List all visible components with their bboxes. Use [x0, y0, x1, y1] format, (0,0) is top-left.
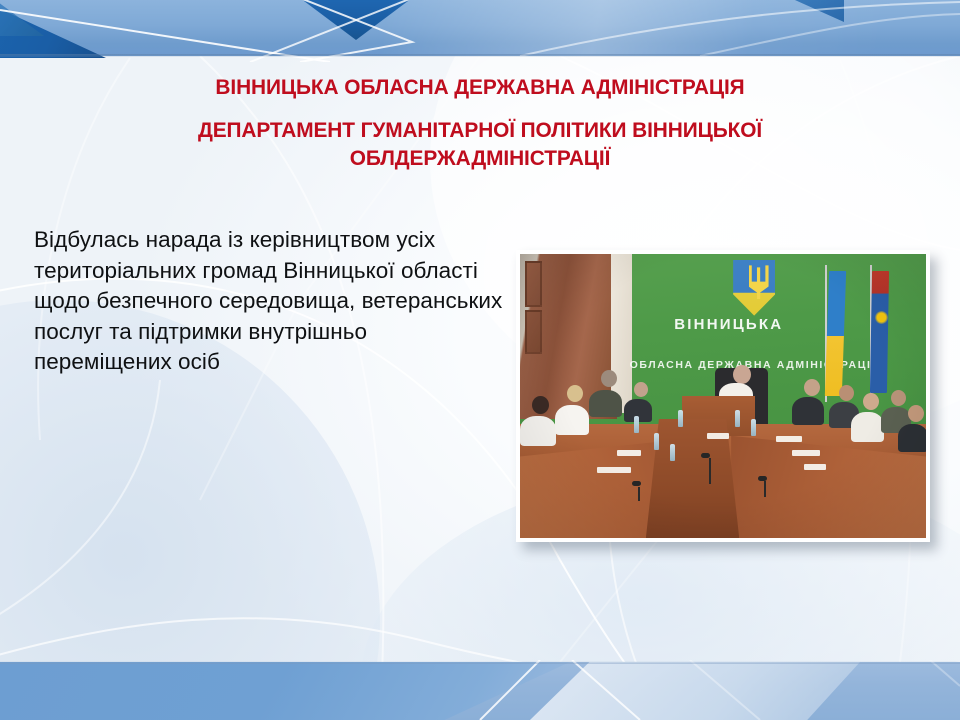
meeting-photo-frame: ВІННИЦЬКА ОБЛАСНА ДЕРЖАВНА АДМІНІСТРАЦІЯ [516, 250, 930, 542]
top-band-edge [0, 54, 960, 57]
bottom-band-lines [0, 660, 960, 720]
bottom-band-pale-shape [530, 662, 860, 720]
top-left-triangle-accent-small [0, 2, 44, 36]
bottom-band-edge [0, 661, 960, 664]
top-right-triangle-accent [786, 0, 844, 22]
slide-body-paragraph: Відбулась нарада із керівництвом усіх те… [34, 225, 504, 378]
slide-title-block: ВІННИЦЬКА ОБЛАСНА ДЕРЖАВНА АДМІНІСТРАЦІЯ… [60, 74, 900, 173]
top-band-sheen [0, 0, 960, 56]
bottom-band-left-shape [0, 662, 570, 720]
presentation-slide: ВІННИЦЬКА ОБЛАСНА ДЕРЖАВНА АДМІНІСТРАЦІЯ… [0, 0, 960, 720]
photo-vignette [520, 254, 926, 538]
top-center-triangle-accent [300, 0, 412, 40]
meeting-photo: ВІННИЦЬКА ОБЛАСНА ДЕРЖАВНА АДМІНІСТРАЦІЯ [520, 254, 926, 538]
top-left-triangle-accent [0, 8, 106, 58]
organization-title: ВІННИЦЬКА ОБЛАСНА ДЕРЖАВНА АДМІНІСТРАЦІЯ [73, 74, 888, 101]
department-title: ДЕПАРТАМЕНТ ГУМАНІТАРНОЇ ПОЛІТИКИ ВІННИЦ… [73, 116, 888, 173]
top-band-lines [0, 0, 960, 62]
top-decorative-band [0, 0, 960, 56]
bottom-decorative-band [0, 662, 960, 720]
